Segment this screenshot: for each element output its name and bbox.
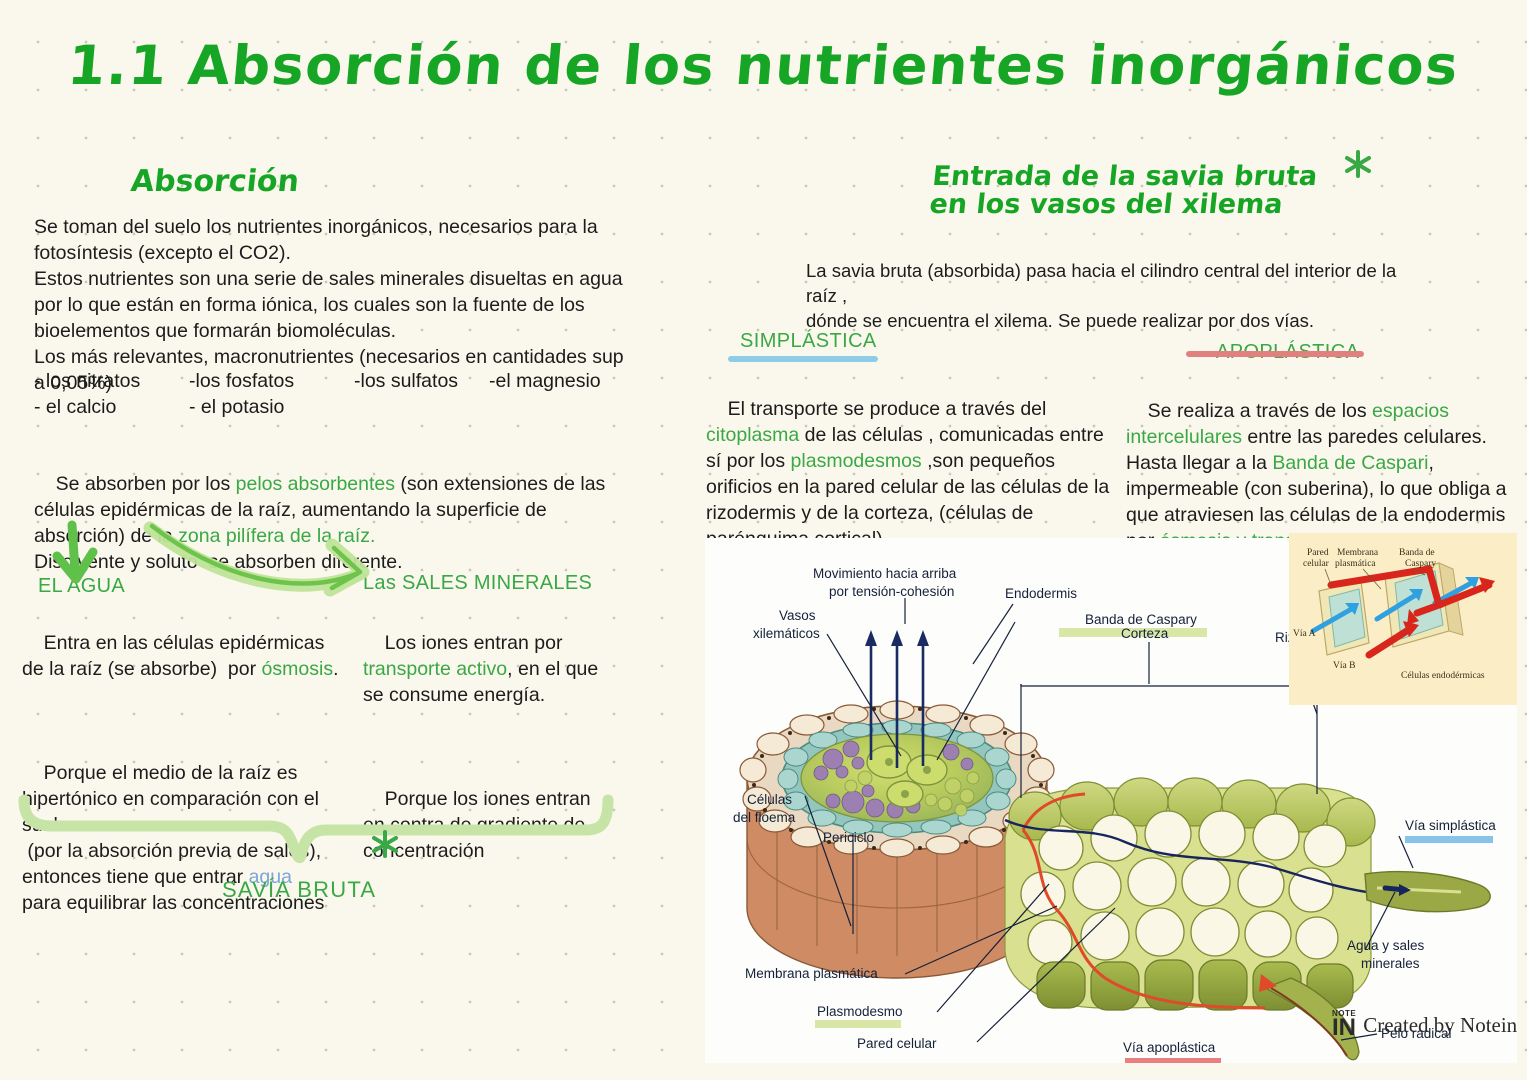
inset-label-banda-2: Caspary xyxy=(1405,559,1436,569)
sales-minerales-title: Las SALES MINERALES xyxy=(363,572,592,595)
savia-bruta-label: SAVÍA BRUTA xyxy=(222,877,376,903)
label-vasos-1: Vasos xyxy=(779,608,816,623)
text-fragment: Se absorben por los xyxy=(56,473,236,495)
inset-label-via-a: Vía A xyxy=(1293,629,1316,639)
inset-svg: Pared celular Membrana plasmática Banda … xyxy=(1289,533,1517,705)
text-fragment: Los iones entran por xyxy=(385,632,568,654)
plasmodesmo-highlight xyxy=(815,1020,901,1028)
heading-line-2: en los vasos del xilema xyxy=(928,189,1284,220)
highlight-zona-pilifera: zona pilífera de la raíz. xyxy=(178,525,375,547)
highlight-transporte-activo: transporte activo xyxy=(363,658,507,680)
macronutrient-item: - el calcio xyxy=(34,394,189,420)
label-vasos-2: xilemáticos xyxy=(753,626,820,641)
highlight-pelos-absorbentes: pelos absorbentes xyxy=(236,473,395,495)
sales-minerales-body: Los iones entran por transporte activo, … xyxy=(363,604,613,890)
label-pared-celular: Pared celular xyxy=(857,1036,937,1051)
watermark-text: Created by Notein xyxy=(1363,1013,1517,1038)
inset-label-membrana-2: plasmática xyxy=(1335,559,1376,569)
inset-label-celulas-endodermicas: Células endodérmicas xyxy=(1401,671,1485,681)
inset-label-pared-2: celular xyxy=(1303,559,1330,569)
apoplastica-underline xyxy=(1186,351,1364,357)
macronutrient-item: -el magnesio xyxy=(489,368,601,394)
inset-label-banda-1: Banda de xyxy=(1399,548,1435,558)
entrada-savia-heading: Entrada de la savia bruta en los vasos d… xyxy=(928,163,1319,220)
label-agua-sales-1: Agua y sales xyxy=(1347,938,1425,953)
label-endodermis: Endodermis xyxy=(1005,586,1077,601)
macronutrient-item: -los fosfatos xyxy=(189,368,354,394)
asterisk-heading-icon xyxy=(1347,152,1369,176)
label-movimiento-1: Movimiento hacia arriba xyxy=(813,566,957,581)
label-movimiento-2: por tensión-cohesión xyxy=(829,584,954,599)
label-celulas-floema-2: del floema xyxy=(733,810,796,825)
label-banda-caspary: Banda de Caspary xyxy=(1085,612,1197,627)
page-title: 1.1 Absorción de los nutrientes inorgáni… xyxy=(0,34,1527,97)
macronutrient-item: - el potasio xyxy=(189,394,354,420)
absorcion-heading: Absorción xyxy=(129,166,300,198)
via-apoplastica-highlight xyxy=(1125,1058,1221,1063)
inset-label-membrana-1: Membrana xyxy=(1337,548,1379,558)
endodermis-inset-diagram: Pared celular Membrana plasmática Banda … xyxy=(1289,533,1517,705)
heading-line-1: Entrada de la savia bruta xyxy=(931,161,1319,192)
via-simplastica-highlight xyxy=(1405,836,1493,843)
highlight-osmosis: ósmosis xyxy=(262,658,334,680)
text-fragment: . xyxy=(333,658,338,680)
label-membrana-plasmatica: Membrana plasmática xyxy=(745,966,878,981)
macronutrient-item: -los sulfatos xyxy=(354,368,489,394)
text-fragment: El transporte se produce a través del xyxy=(728,398,1052,420)
label-via-simplastica: Vía simplástica xyxy=(1405,818,1496,833)
label-agua-sales-2: minerales xyxy=(1361,956,1420,971)
inset-label-pared-1: Pared xyxy=(1307,548,1329,558)
text-fragment: Disolvente y soluto se absorben diferent… xyxy=(34,551,403,573)
label-celulas-floema-1: Células xyxy=(747,792,792,807)
macronutrient-row: - el calcio - el potasio xyxy=(34,394,644,420)
text-fragment: Se realiza a través de los xyxy=(1148,400,1372,422)
macronutrient-row: - los nitratos -los fosfatos -los sulfat… xyxy=(34,368,644,394)
highlight-plasmodesmos: plasmodesmos xyxy=(791,450,922,472)
label-plasmodesmo: Plasmodesmo xyxy=(817,1004,903,1019)
highlight-banda-caspari: Banda de Caspari xyxy=(1272,452,1428,474)
el-agua-title: EL AGUA xyxy=(38,575,125,598)
highlight-citoplasma: citoplasma xyxy=(706,424,799,446)
text-fragment: Porque los iones entran en contra de gra… xyxy=(363,788,596,862)
macronutrient-item: - los nitratos xyxy=(34,368,189,394)
label-via-apoplastica: Vía apoplástica xyxy=(1123,1040,1216,1055)
simplastica-title: SIMPLÁSTICA xyxy=(740,330,877,353)
label-periciclo: Periciclo xyxy=(823,830,874,845)
notes-page: 1.1 Absorción de los nutrientes inorgáni… xyxy=(0,0,1527,1080)
notein-watermark: NOTE IN Created by Notein xyxy=(1332,1010,1517,1040)
notein-logo-icon: NOTE IN xyxy=(1332,1010,1356,1040)
simplastica-underline xyxy=(728,356,878,362)
inset-label-via-b: Vía B xyxy=(1333,661,1355,671)
macronutrients-list: - los nitratos -los fosfatos -los sulfat… xyxy=(34,368,644,420)
label-corteza: Corteza xyxy=(1121,626,1169,641)
logo-bottom-text: IN xyxy=(1332,1016,1356,1040)
entrada-paragraph: La savia bruta (absorbida) pasa hacia el… xyxy=(806,258,1426,333)
